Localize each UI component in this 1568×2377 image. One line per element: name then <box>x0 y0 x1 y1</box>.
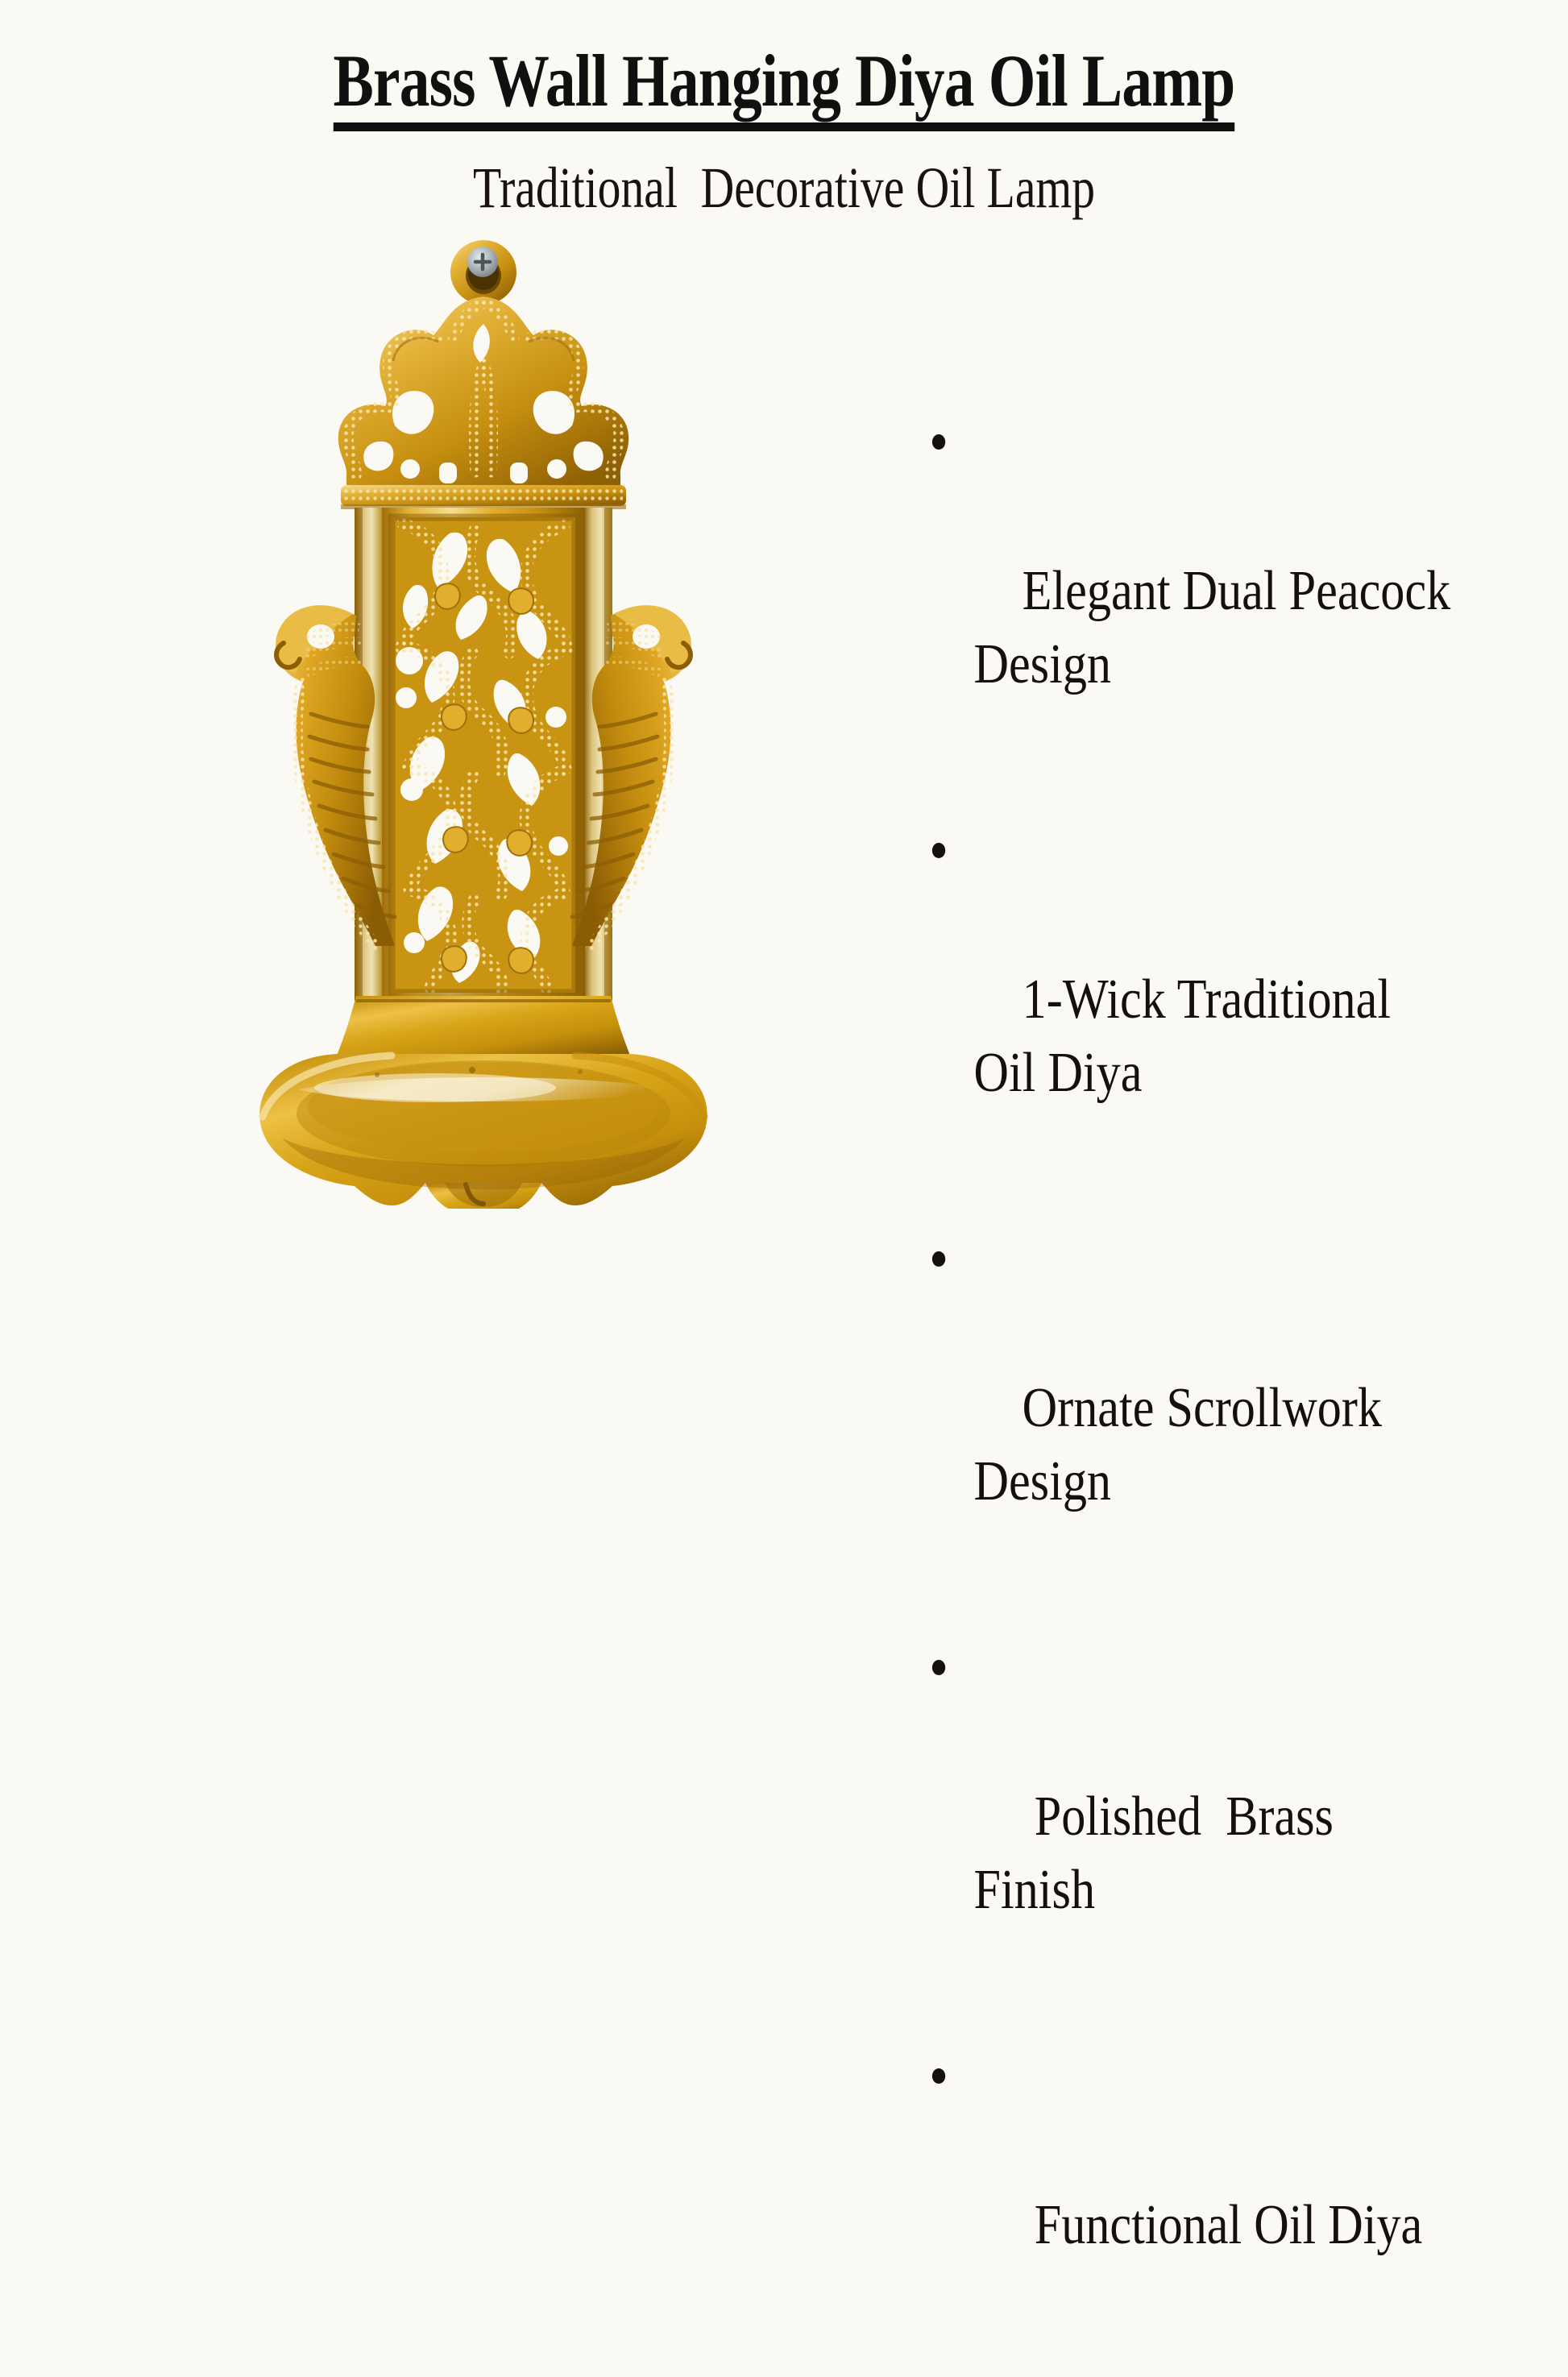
feature-label: Functional Oil Diya <box>1023 2194 1423 2256</box>
feature-label: Ornate Scrollwork Design <box>973 1377 1394 1512</box>
page-title: Brass Wall Hanging Diya Oil Lamp <box>141 0 1427 131</box>
bullet-icon <box>932 1251 945 1267</box>
page-subtitle: Traditional Decorative Oil Lamp <box>157 131 1412 217</box>
feature-label: 1-Wick Traditional Oil Diya <box>973 969 1403 1104</box>
list-item: 1-Wick Traditional Oil Diya <box>927 816 1460 1183</box>
pierced-scrollwork-panel <box>382 508 585 1001</box>
list-item: Elegant Dual Peacock Design <box>927 408 1460 774</box>
list-item: Ornate Scrollwork Design <box>927 1225 1460 1591</box>
bullet-icon <box>932 1660 945 1675</box>
feature-list: Elegant Dual Peacock Design 1-Wick Tradi… <box>927 408 1547 2377</box>
bullet-icon <box>932 434 945 450</box>
product-image-brass-oil-lamp <box>234 234 733 1209</box>
feature-label: Elegant Dual Peacock Design <box>973 560 1462 695</box>
bullet-icon <box>932 843 945 858</box>
page-title-underline: Brass Wall Hanging Diya Oil Lamp <box>334 44 1235 131</box>
hanging-loop-with-screw <box>450 240 516 305</box>
ornate-crown-finial <box>338 297 628 509</box>
list-item: Polished Brass Finish <box>927 1633 1460 2000</box>
list-item: Functional Oil Diya <box>927 2042 1460 2335</box>
header: Brass Wall Hanging Diya Oil Lamp Traditi… <box>0 0 1568 217</box>
feature-label: Polished Brass Finish <box>973 1786 1346 1921</box>
oil-diya-bowl <box>259 996 707 1209</box>
bullet-icon <box>932 2068 945 2084</box>
